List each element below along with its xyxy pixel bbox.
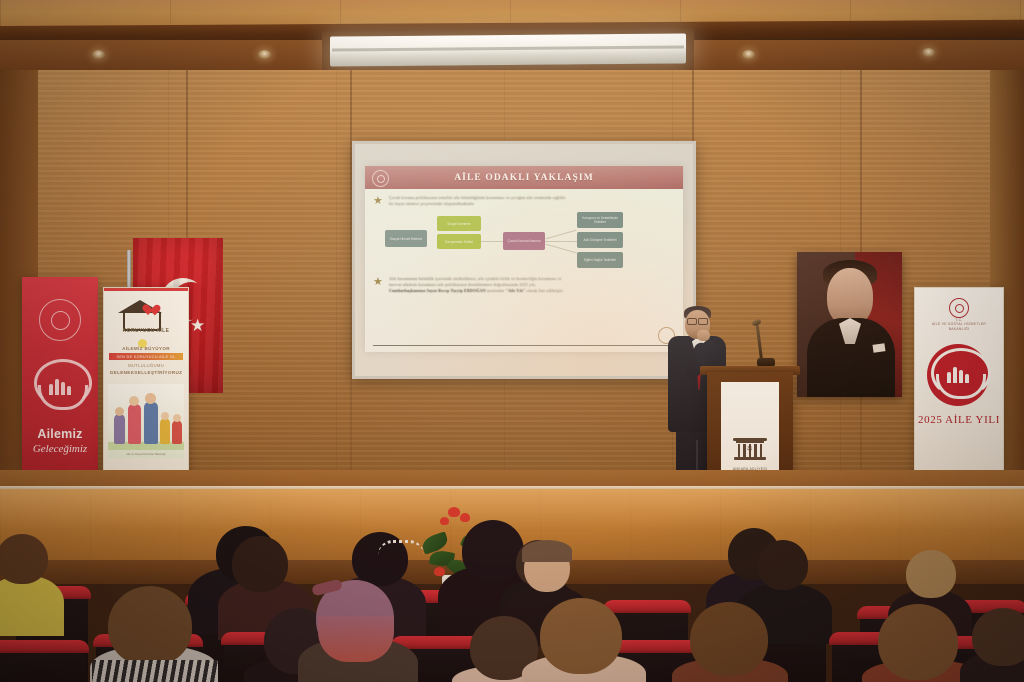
banner-red-line-2: Geleceğimiz: [22, 443, 98, 455]
diagram-box: Adli Görüşme Tedbirleri: [577, 232, 623, 248]
banner-accent-line: [104, 288, 188, 291]
pearl-headpiece-icon: [378, 540, 424, 555]
projection-screen: AİLE ODAKLI YAKLAŞIM ★ Çocuk koruma poli…: [352, 141, 696, 379]
diagram-box: Sosyal İnceleme: [437, 216, 481, 231]
scales-icon: ⚖: [747, 445, 753, 452]
courthouse-emblem-icon: ⚖: [733, 438, 767, 464]
striped-jacket: [92, 660, 218, 682]
bullet-2-text: Aile kurumunun bütünlük içerisinde sürdü…: [389, 276, 564, 294]
star-icon: ★: [190, 317, 205, 334]
downlight-icon: [92, 50, 105, 59]
ministry-emblem-icon: [39, 299, 81, 341]
banner-heading-3: GELENEKSELLEŞTİRİYORUZ: [108, 370, 184, 375]
screen-surface: AİLE ODAKLI YAKLAŞIM ★ Çocuk koruma poli…: [355, 144, 693, 376]
slide-bullet-1: ★ Çocuk koruma politikasının temelini ai…: [373, 195, 675, 207]
house-heart-logo-icon: [118, 300, 162, 330]
speaker-hand: [697, 330, 710, 341]
slide-body: ★ Çocuk koruma politikasının temelini ai…: [365, 189, 683, 352]
slide-title: AİLE ODAKLI YAKLAŞIM: [454, 173, 594, 183]
ministry-seal-icon: [372, 170, 389, 187]
slide-divider: [373, 345, 675, 346]
slide-title-bar: AİLE ODAKLI YAKLAŞIM: [365, 166, 683, 189]
president-name: Cumhurbaşkanımız Sayın Recep Tayyip ERDO…: [389, 288, 486, 293]
slide-bullet-2: ★ Aile kurumunun bütünlük içerisinde sür…: [373, 276, 675, 294]
banner-strip-text: SEN DE KORUYUCU AİLE OL: [116, 355, 175, 359]
portrait-pocket-square: [873, 343, 886, 353]
banner-ailemiz-gelecegimiz: Ailemiz Geleceğimiz: [22, 277, 98, 492]
banner-heading-2: MUTLULUĞUMU: [108, 363, 184, 368]
diagram-box-center: Çocuk Koruma Kanunu: [503, 232, 545, 250]
ministry-seal-icon: [949, 298, 969, 318]
eyeglasses-icon: [687, 318, 708, 323]
diagram-box: Koruyucu ve Destekleyici Tedbirler: [577, 212, 623, 228]
slide-diagram: Sosyal Hizmet Merkezi Sosyal İnceleme Da…: [373, 210, 675, 272]
banner-footer-text: Aile ve Sosyal Hizmetler Bakanlığı: [114, 453, 178, 456]
banner-ministry-lines: T.C. AİLE VE SOSYAL HİZMETLER BAKANLIĞI: [919, 318, 999, 331]
chair: [0, 644, 86, 682]
banner-2025-title: 2025 AİLE YILI: [915, 414, 1003, 426]
banner-strip: SEN DE KORUYUCU AİLE OL: [109, 353, 183, 360]
ministry-line-3: BAKANLIĞI: [919, 327, 999, 331]
ceiling-light-fixture: [330, 33, 686, 66]
star-bullet-icon: ★: [373, 277, 384, 288]
audience: [0, 520, 1024, 682]
conference-hall-photo: ★ AİLE ODAKLI YAKLAŞIM ★ Çocuk koruma po…: [0, 0, 1024, 682]
banner-heading-1: AİLEMİZ BÜYÜYOR: [108, 346, 184, 351]
star-bullet-icon: ★: [373, 196, 384, 207]
family-year-quote: "Aile Yılı": [506, 288, 526, 293]
downlight-icon: [742, 50, 755, 59]
family-illustration: Aile ve Sosyal Hizmetler Bakanlığı: [108, 384, 184, 458]
diagram-connector: [545, 241, 577, 242]
downlight-icon: [922, 48, 935, 57]
bullet-1-line-2: bir hayat sürmesi çerçevesinde oluşturul…: [389, 201, 565, 207]
banner-2025-aile-yili: T.C. AİLE VE SOSYAL HİZMETLER BAKANLIĞI …: [914, 287, 1004, 492]
diagram-connector: [545, 230, 576, 240]
ataturk-portrait: [797, 252, 902, 397]
downlight-icon: [258, 50, 271, 59]
diagram-connector: [545, 244, 576, 254]
banner-koruyucu-aile: KORUYUCU AİLE AİLEMİZ BÜYÜYOR SEN DE KOR…: [103, 287, 189, 487]
family-year-logo-icon: [927, 344, 991, 406]
bullet-1-text: Çocuk koruma politikasının temelini aile…: [389, 195, 565, 207]
family-logo-icon: [32, 359, 88, 411]
presentation-slide: AİLE ODAKLI YAKLAŞIM ★ Çocuk koruma poli…: [365, 166, 683, 352]
diagram-box: Danışmanlık Tedbiri: [437, 234, 481, 249]
bullet-2-line-3: Cumhurbaşkanımız Sayın Recep Tayyip ERDO…: [389, 288, 564, 294]
diagram-box: Sosyal Hizmet Merkezi: [385, 230, 427, 247]
banner-red-line-1: Ailemiz: [22, 427, 98, 441]
headscarf: [318, 616, 394, 662]
banner-logo-label: KORUYUCU AİLE: [114, 328, 178, 334]
diagram-box: Eğitim Sağlık Tedbirleri: [577, 252, 623, 268]
